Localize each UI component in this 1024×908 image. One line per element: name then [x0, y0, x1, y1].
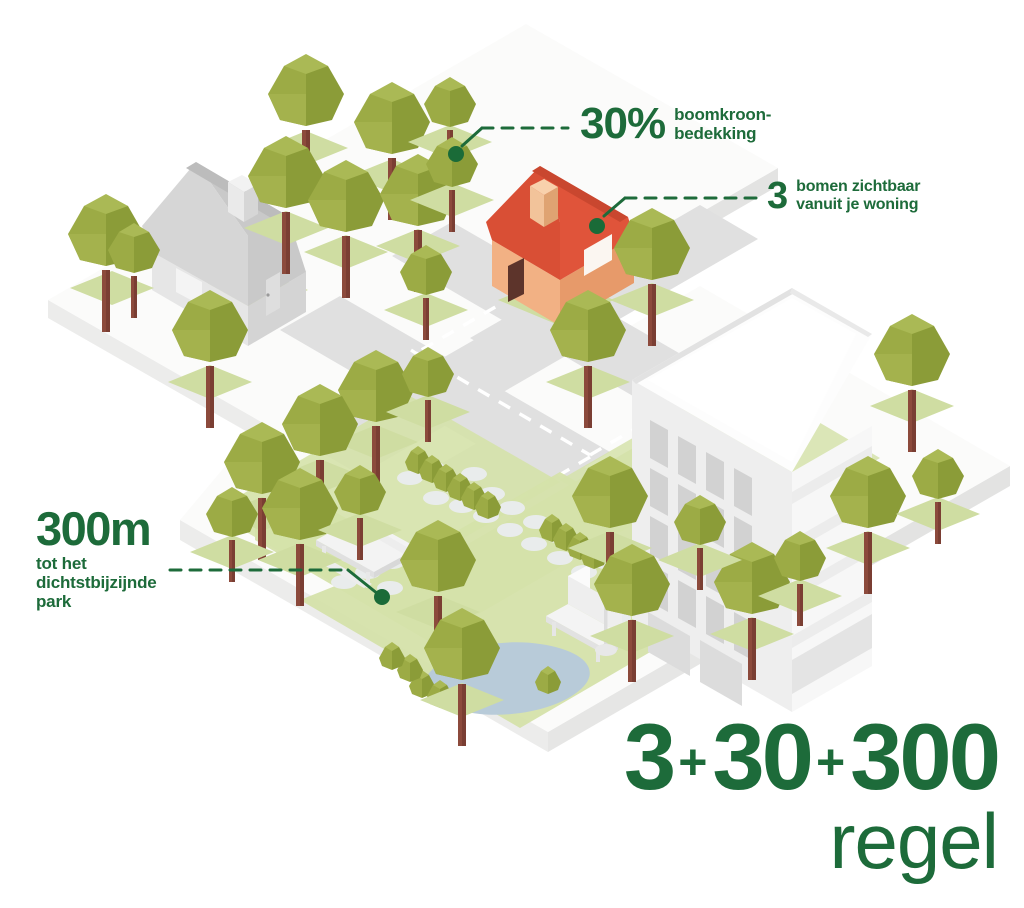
callout-canopy-label-line2: bedekking [674, 124, 771, 143]
headline-plus-2: + [816, 739, 845, 787]
headline-number-3: 300 [850, 712, 998, 801]
callout-park-label-line2: dichtstbijzijnde [36, 573, 157, 592]
callout-park-label-line3: park [36, 592, 157, 611]
callout-canopy-label: boomkroon- bedekking [674, 105, 771, 143]
callout-trees-label-line1: bomen zichtbaar [796, 178, 920, 196]
headline-plus-1: + [678, 739, 707, 787]
infographic-canvas: 30% boomkroon- bedekking 3 bomen zichtba… [0, 0, 1024, 908]
callout-park-label: tot het dichtstbijzijnde park [36, 554, 157, 611]
callout-canopy: 30% boomkroon- bedekking [580, 103, 771, 145]
callout-trees-visible: 3 bomen zichtbaar vanuit je woning [767, 178, 920, 214]
callout-trees-label: bomen zichtbaar vanuit je woning [796, 178, 920, 214]
callout-park-value: 300m [36, 507, 157, 552]
headline-word: regel [528, 803, 998, 879]
callout-trees-value: 3 [767, 178, 787, 214]
callout-park-label-line1: tot het [36, 554, 157, 573]
headline: 3 + 30 + 300 regel [528, 712, 998, 880]
callout-park-distance: 300m tot het dichtstbijzijnde park [36, 507, 157, 611]
tree-visibility-marker-dot [589, 218, 605, 234]
park-marker-dot [374, 589, 390, 605]
headline-number-1: 3 [624, 712, 673, 801]
callout-canopy-label-line1: boomkroon- [674, 105, 771, 124]
canopy-marker-dot [448, 146, 464, 162]
headline-number-2: 30 [712, 712, 811, 801]
callout-trees-label-line2: vanuit je woning [796, 196, 920, 214]
callout-canopy-value: 30% [580, 103, 665, 145]
headline-formula: 3 + 30 + 300 [528, 712, 998, 801]
